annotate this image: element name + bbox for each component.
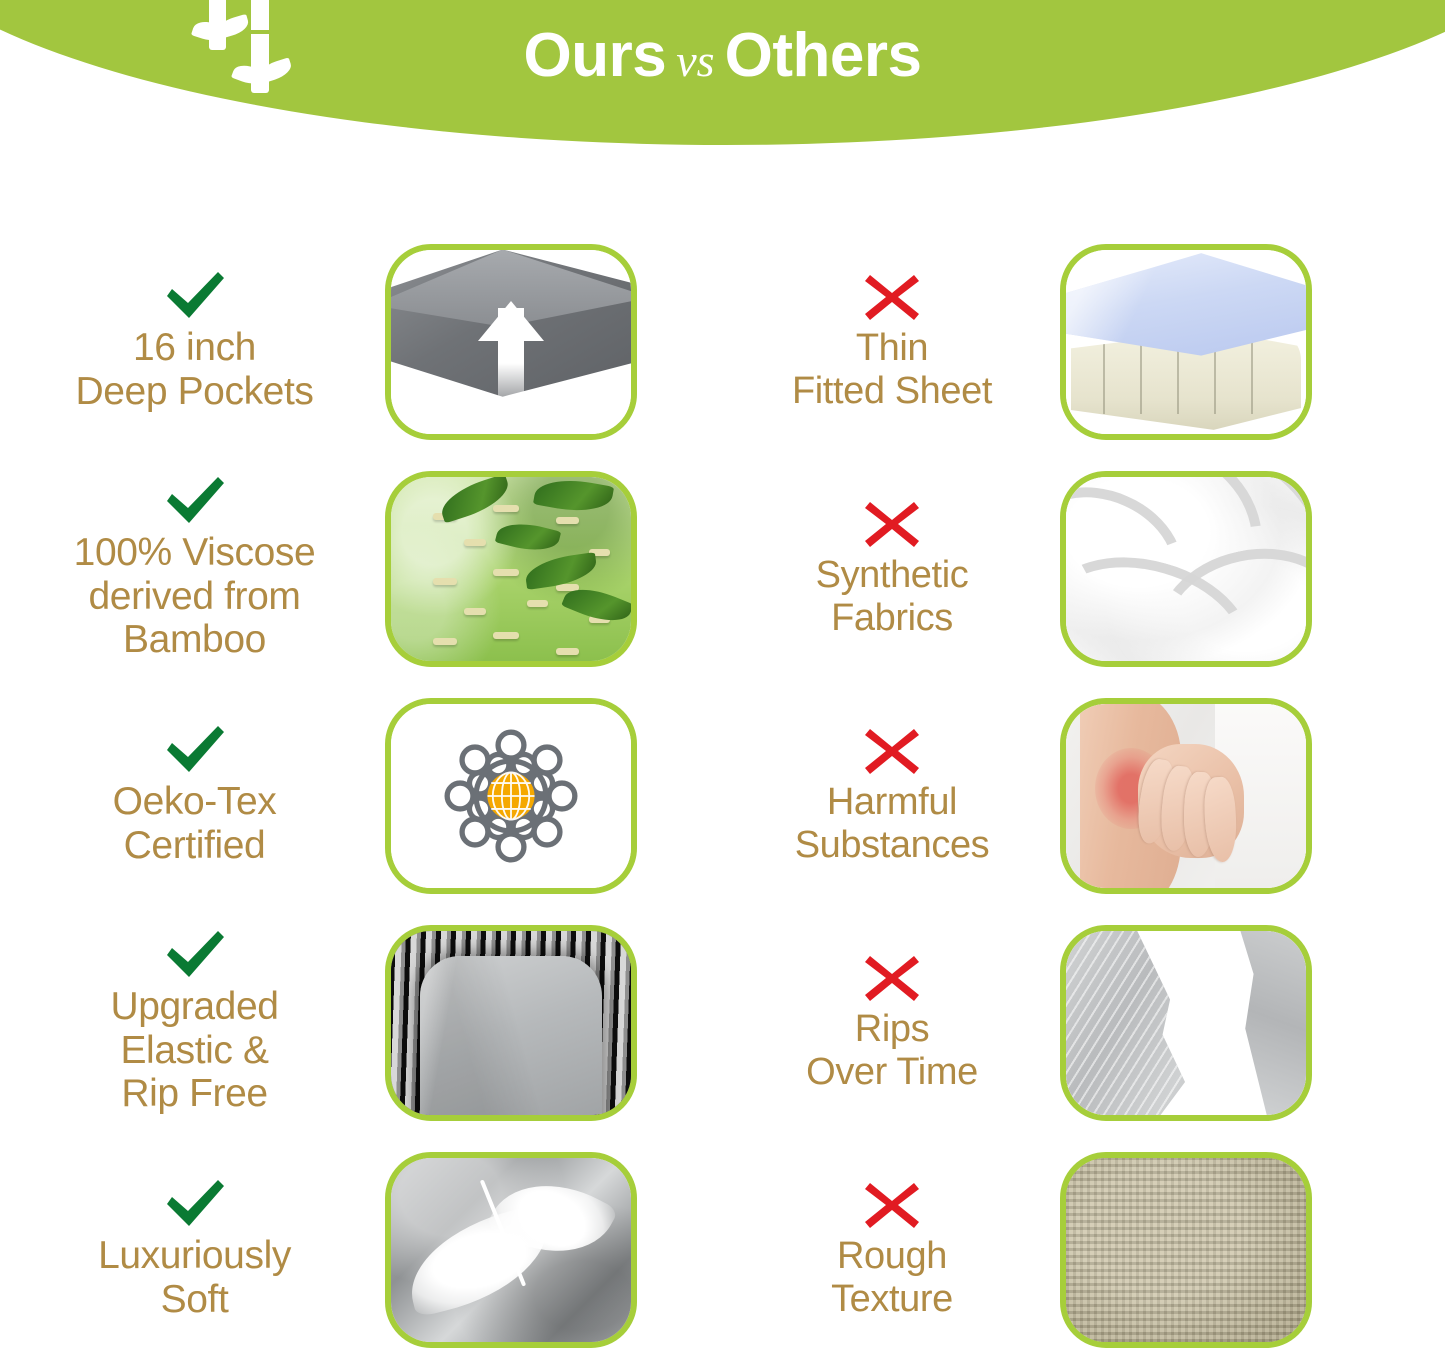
others-image-tile xyxy=(1060,244,1312,440)
others-label: Harmful Substances xyxy=(795,781,990,866)
comparison-grid: 16 inch Deep Pockets Thin Fitt xyxy=(0,228,1445,1364)
comparison-row: 100% Viscose derived from Bamboo xyxy=(0,455,1445,682)
ours-image-tile xyxy=(385,471,637,667)
irritated-red-skin-scratching-arm-image xyxy=(1066,704,1306,888)
oeko-tex-logo-svg xyxy=(435,720,587,872)
page-title: OursvsOthers xyxy=(0,20,1445,91)
others-label: Thin Fitted Sheet xyxy=(792,327,992,412)
thin-blue-sheet-slipping-off-mattress-image xyxy=(1066,250,1306,434)
ours-cell: Upgraded Elastic & Rip Free xyxy=(22,909,667,1136)
coarse-beige-burlap-weave-image xyxy=(1066,1158,1306,1342)
others-image-tile xyxy=(1060,925,1312,1121)
others-label-group: Thin Fitted Sheet xyxy=(742,271,1042,412)
ours-label: Luxuriously Soft xyxy=(98,1234,291,1321)
green-bamboo-stalks-photo-image xyxy=(391,477,631,661)
title-vs: vs xyxy=(666,35,724,86)
ours-image-tile xyxy=(385,244,637,440)
ours-label-group: 16 inch Deep Pockets xyxy=(22,270,367,413)
comparison-infographic: OursvsOthers 16 inch Deep Pockets xyxy=(0,0,1445,1364)
gray-fitted-sheet-deep-corner-with-up-arrow-image xyxy=(391,250,631,434)
oeko-tex-certification-logo-image xyxy=(391,704,631,888)
white-feather-on-gray-silk-image xyxy=(391,1158,631,1342)
ours-cell: Oeko-Tex Certified xyxy=(22,682,667,909)
ours-label: 100% Viscose derived from Bamboo xyxy=(74,531,316,662)
others-label-group: Rips Over Time xyxy=(742,952,1042,1093)
check-icon xyxy=(163,929,227,981)
title-others: Others xyxy=(725,21,922,90)
torn-ripped-gray-fabric-image xyxy=(1066,931,1306,1115)
others-label: Rips Over Time xyxy=(806,1008,978,1093)
ours-image-tile xyxy=(385,1152,637,1348)
ours-cell: 16 inch Deep Pockets xyxy=(22,228,667,455)
ours-label-group: 100% Viscose derived from Bamboo xyxy=(22,475,367,662)
ours-label: Upgraded Elastic & Rip Free xyxy=(110,985,278,1116)
ours-label-group: Upgraded Elastic & Rip Free xyxy=(22,929,367,1116)
others-cell: Rough Texture xyxy=(742,1136,1342,1363)
ours-label: Oeko-Tex Certified xyxy=(113,780,277,867)
ours-image-tile xyxy=(385,698,637,894)
ours-cell: Luxuriously Soft xyxy=(22,1136,667,1363)
check-icon xyxy=(163,270,227,322)
white-synthetic-fabric-folds-image xyxy=(1066,477,1306,661)
header-banner: OursvsOthers xyxy=(0,0,1445,150)
others-label-group: Harmful Substances xyxy=(742,725,1042,866)
others-label: Rough Texture xyxy=(831,1235,953,1320)
others-label-group: Synthetic Fabrics xyxy=(742,498,1042,639)
others-label: Synthetic Fabrics xyxy=(816,554,969,639)
check-icon xyxy=(163,724,227,776)
others-cell: Harmful Substances xyxy=(742,682,1342,909)
gray-fitted-sheet-with-elastic-band-image xyxy=(391,931,631,1115)
ours-label: 16 inch Deep Pockets xyxy=(76,326,314,413)
others-label-group: Rough Texture xyxy=(742,1179,1042,1320)
others-image-tile xyxy=(1060,1152,1312,1348)
cross-icon xyxy=(862,498,922,550)
ours-label-group: Oeko-Tex Certified xyxy=(22,724,367,867)
ours-image-tile xyxy=(385,925,637,1121)
comparison-row: Upgraded Elastic & Rip Free Rips Over Ti… xyxy=(0,909,1445,1136)
check-icon xyxy=(163,475,227,527)
others-cell: Synthetic Fabrics xyxy=(742,455,1342,682)
title-ours: Ours xyxy=(524,21,667,90)
ours-label-group: Luxuriously Soft xyxy=(22,1178,367,1321)
comparison-row: 16 inch Deep Pockets Thin Fitt xyxy=(0,228,1445,455)
comparison-row: Oeko-Tex Certified xyxy=(0,682,1445,909)
comparison-row: Luxuriously Soft Rough Texture xyxy=(0,1136,1445,1363)
cross-icon xyxy=(862,1179,922,1231)
cross-icon xyxy=(862,952,922,1004)
cross-icon xyxy=(862,725,922,777)
others-image-tile xyxy=(1060,698,1312,894)
ours-cell: 100% Viscose derived from Bamboo xyxy=(22,455,667,682)
others-cell: Rips Over Time xyxy=(742,909,1342,1136)
others-cell: Thin Fitted Sheet xyxy=(742,228,1342,455)
cross-icon xyxy=(862,271,922,323)
others-image-tile xyxy=(1060,471,1312,667)
check-icon xyxy=(163,1178,227,1230)
